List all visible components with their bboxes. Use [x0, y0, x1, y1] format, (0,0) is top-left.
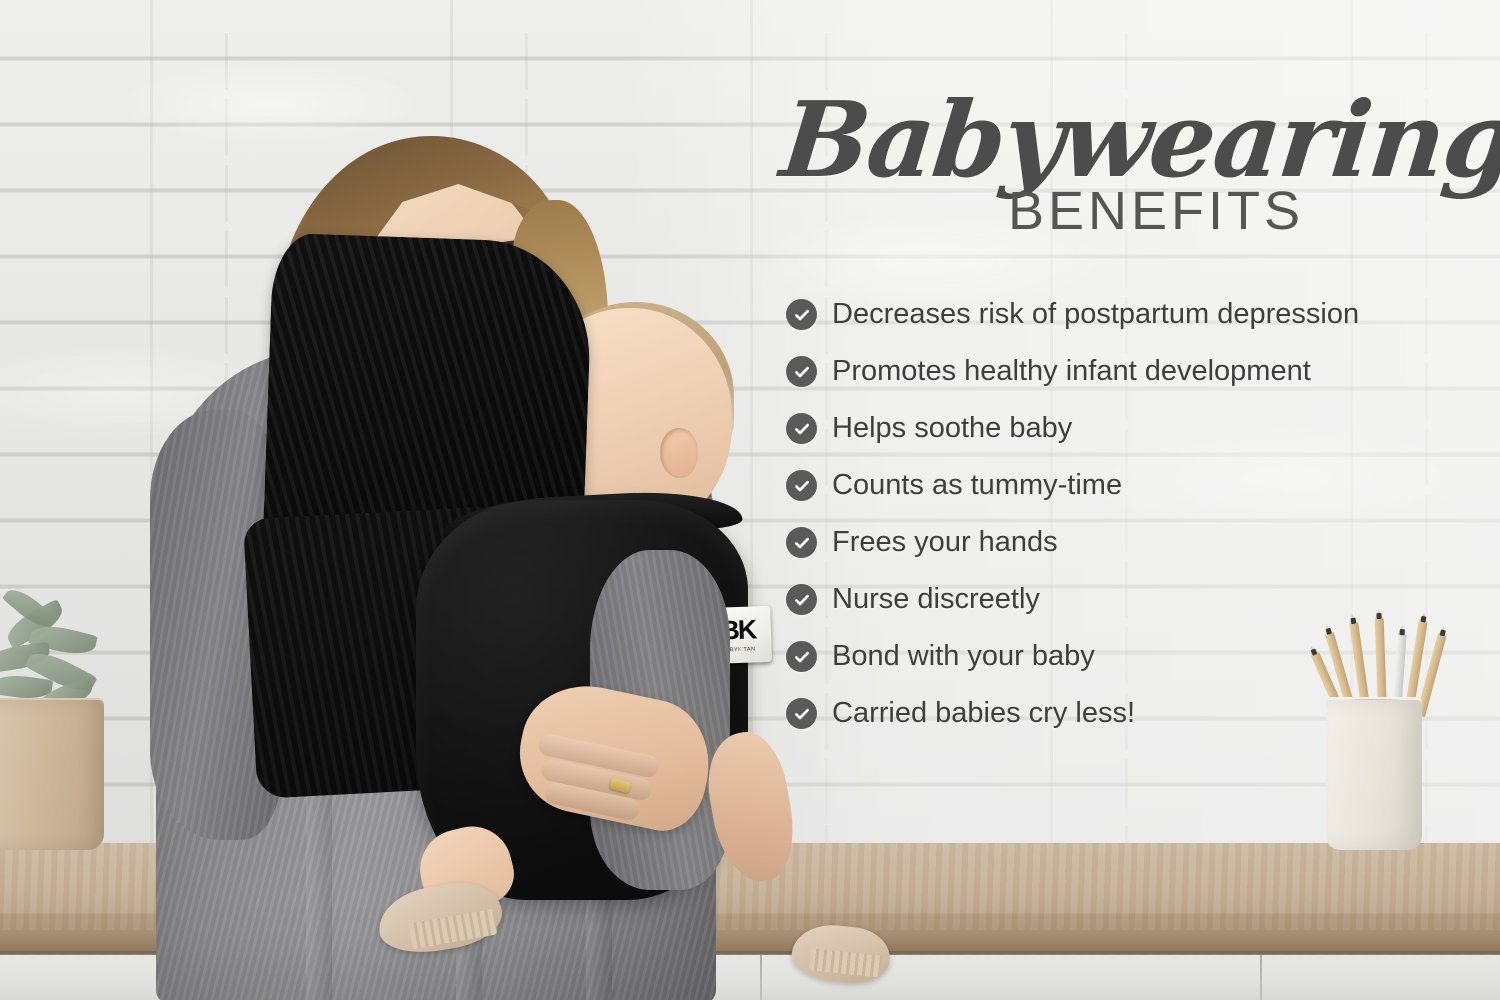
- check-circle-icon: [786, 356, 817, 387]
- list-item-label: Carried babies cry less!: [832, 697, 1135, 730]
- page-title-script: Babywearing: [777, 88, 1500, 192]
- check-circle-icon: [786, 698, 817, 729]
- page-title-sub: BENEFITS: [1008, 184, 1304, 238]
- check-circle-icon: [786, 299, 817, 330]
- check-circle-icon: [786, 527, 817, 558]
- list-item: Decreases risk of postpartum depression: [786, 286, 1426, 343]
- list-item: Counts as tummy-time: [786, 457, 1426, 514]
- list-item: Helps soothe baby: [786, 400, 1426, 457]
- list-item: Carried babies cry less!: [786, 685, 1426, 742]
- list-item: Promotes healthy infant development: [786, 343, 1426, 400]
- mother-and-baby-photo: BK BABYK'TAN: [120, 80, 780, 1000]
- cabinet-seam: [1260, 955, 1262, 1000]
- plant-pot: [0, 700, 104, 850]
- list-item-label: Decreases risk of postpartum depression: [832, 298, 1359, 331]
- list-item: Frees your hands: [786, 514, 1426, 571]
- list-item-label: Promotes healthy infant development: [832, 355, 1311, 388]
- list-item-label: Counts as tummy-time: [832, 469, 1122, 502]
- promo-graphic: BK BABYK'TAN Babywearing BENEFITS Decrea…: [0, 0, 1500, 1000]
- check-circle-icon: [786, 470, 817, 501]
- list-item-label: Bond with your baby: [832, 640, 1095, 673]
- baby-ear: [660, 428, 698, 478]
- list-item: Nurse discreetly: [786, 571, 1426, 628]
- list-item: Bond with your baby: [786, 628, 1426, 685]
- list-item-label: Frees your hands: [832, 526, 1058, 559]
- benefits-list: Decreases risk of postpartum depression …: [786, 286, 1426, 742]
- brand-wordmark-right: TAN: [743, 646, 755, 652]
- check-circle-icon: [786, 584, 817, 615]
- check-circle-icon: [786, 413, 817, 444]
- list-item-label: Helps soothe baby: [832, 412, 1072, 445]
- check-circle-icon: [786, 641, 817, 672]
- list-item-label: Nurse discreetly: [832, 583, 1040, 616]
